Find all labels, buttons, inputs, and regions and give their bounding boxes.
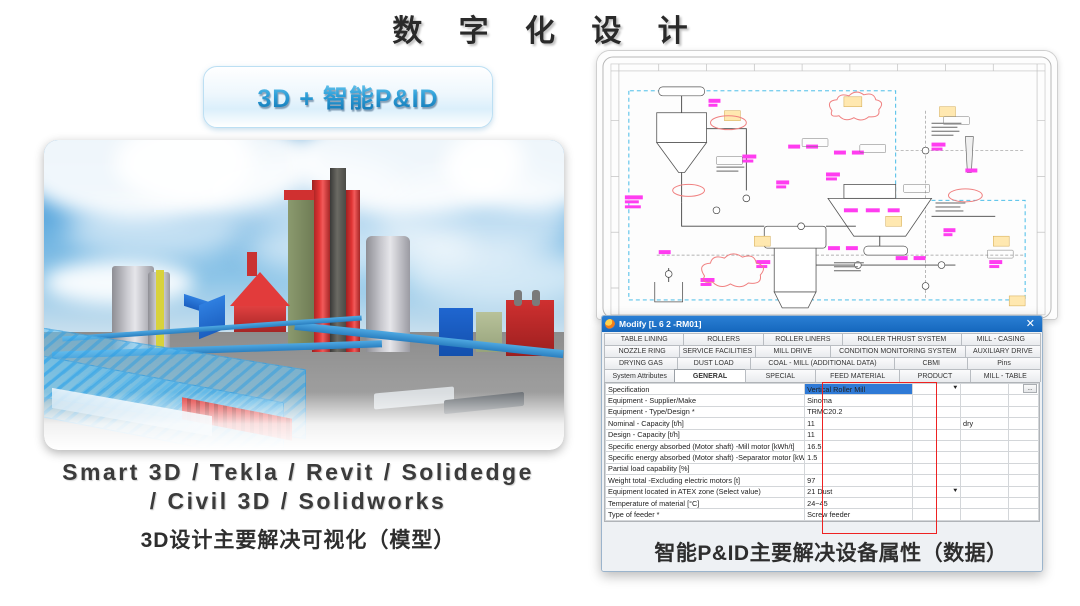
page-title: 数 字 化 设 计	[0, 6, 1080, 50]
left-panel: 3D + 智能P&ID	[18, 58, 578, 588]
property-col-a[interactable]	[913, 463, 961, 474]
tab-product[interactable]: PRODUCT	[899, 369, 970, 382]
property-value[interactable]: 97	[805, 475, 913, 486]
tab-system-attributes[interactable]: System Attributes	[604, 369, 675, 382]
software-brands: Smart 3D / Tekla / Revit / Solidedge / C…	[18, 458, 578, 516]
badge-label: 3D + 智能P&ID	[257, 79, 438, 115]
table-row[interactable]: Equipment - Supplier/MakeSinoma	[606, 395, 1039, 406]
blue-building	[439, 308, 473, 356]
property-col-a[interactable]	[913, 440, 961, 451]
property-label: Specific energy absorbed (Motor shaft) -…	[606, 452, 805, 463]
property-unit[interactable]	[961, 429, 1009, 440]
property-label: Design - Capacity [t/h]	[606, 429, 805, 440]
property-col-a[interactable]	[913, 475, 961, 486]
property-value[interactable]	[805, 463, 913, 474]
property-col-a[interactable]	[913, 395, 961, 406]
property-label: Type of feeder *	[606, 509, 805, 520]
reflection-fade	[44, 392, 564, 450]
property-unit[interactable]	[961, 452, 1009, 463]
chevron-down-icon[interactable]: ⯆	[952, 488, 958, 496]
table-row[interactable]: Weight total -Excluding electric motors …	[606, 475, 1039, 486]
pipe-yellow	[156, 270, 164, 352]
plant-3d-render	[44, 140, 564, 450]
property-value[interactable]: TRMC20.2	[805, 406, 913, 417]
property-value[interactable]: 1.5	[805, 452, 913, 463]
right-panel: Modify [L 6 2 -RM01] ✕ TABLE LINING ROLL…	[596, 50, 1066, 590]
tab-nozzle-ring[interactable]: NOZZLE RING	[604, 345, 680, 357]
tab-dust-load[interactable]: DUST LOAD	[677, 357, 751, 369]
property-col-a[interactable]	[913, 452, 961, 463]
slide-root: 数 字 化 设 计 3D + 智能P&ID	[0, 0, 1080, 606]
tab-row-4: System Attributes GENERAL SPECIAL FEED M…	[604, 369, 1040, 382]
table-row[interactable]: Equipment located in ATEX zone (Select v…	[606, 486, 1039, 497]
tab-auxiliary-drive[interactable]: AUXILIARY DRIVE	[965, 345, 1041, 357]
property-col-a[interactable]	[913, 429, 961, 440]
property-col-c[interactable]	[1008, 429, 1038, 440]
property-label: Equipment - Supplier/Make	[606, 395, 805, 406]
table-row[interactable]: Specific energy absorbed (Motor shaft) -…	[606, 440, 1039, 451]
property-unit[interactable]	[961, 395, 1009, 406]
property-label: Partial load capability [%]	[606, 463, 805, 474]
properties-table-wrap: SpecificationVertical Roller Mill⯆Equipm…	[604, 382, 1040, 522]
property-label: Temperature of material [°C]	[606, 497, 805, 508]
property-label: Nominal - Capacity [t/h]	[606, 418, 805, 429]
tab-coal-mill-additional-data[interactable]: COAL - MILL (ADDITIONAL DATA)	[750, 357, 896, 369]
table-row[interactable]: Partial load capability [%]	[606, 463, 1039, 474]
table-row[interactable]: Temperature of material [°C]24~45	[606, 497, 1039, 508]
tab-general[interactable]: GENERAL	[674, 369, 745, 382]
table-row[interactable]: Equipment - Type/Design *TRMC20.2	[606, 406, 1039, 417]
property-col-c[interactable]	[1008, 440, 1038, 451]
table-row[interactable]: Specific energy absorbed (Motor shaft) -…	[606, 452, 1039, 463]
browse-button[interactable]: ...	[1023, 384, 1037, 393]
table-row[interactable]: Design - Capacity [t/h]11	[606, 429, 1039, 440]
tab-condition-monitoring-system[interactable]: CONDITION MONITORING SYSTEM	[830, 345, 966, 357]
tab-rollers[interactable]: ROLLERS	[683, 333, 763, 345]
property-value[interactable]: 24~45	[805, 497, 913, 508]
chevron-down-icon[interactable]: ⯆	[952, 385, 958, 393]
tab-special[interactable]: SPECIAL	[745, 369, 816, 382]
table-row[interactable]: Nominal - Capacity [t/h]11dry	[606, 418, 1039, 429]
property-unit[interactable]	[961, 509, 1009, 520]
left-caption: 3D设计主要解决可视化（模型）	[18, 524, 578, 554]
dialog-title: Modify [L 6 2 -RM01]	[619, 319, 1022, 329]
tab-mill-casing[interactable]: MILL - CASING	[961, 333, 1041, 345]
property-value[interactable]: 11	[805, 429, 913, 440]
software-brands-line-1: Smart 3D / Tekla / Revit / Solidedge	[18, 458, 578, 487]
tab-cbmi[interactable]: CBMI	[894, 357, 968, 369]
tab-mill-drive[interactable]: MILL DRIVE	[755, 345, 831, 357]
property-col-c[interactable]	[1008, 497, 1038, 508]
modify-dialog[interactable]: Modify [L 6 2 -RM01] ✕ TABLE LINING ROLL…	[601, 315, 1043, 572]
property-col-c[interactable]	[1008, 395, 1038, 406]
tab-feed-material[interactable]: FEED MATERIAL	[815, 369, 900, 382]
modify-app-icon	[605, 319, 615, 329]
property-col-c[interactable]	[1008, 475, 1038, 486]
property-unit[interactable]	[961, 440, 1009, 451]
property-value[interactable]: Sinoma	[805, 395, 913, 406]
tab-pins[interactable]: Pins	[967, 357, 1041, 369]
badge-3d-pid: 3D + 智能P&ID	[203, 66, 493, 128]
properties-table: SpecificationVertical Roller Mill⯆Equipm…	[605, 383, 1039, 521]
pid-drawing	[596, 50, 1058, 320]
property-unit[interactable]	[961, 406, 1009, 417]
property-col-a[interactable]: ⯆	[913, 486, 961, 497]
cyclone-stack	[247, 252, 257, 276]
property-unit[interactable]	[961, 486, 1009, 497]
property-unit[interactable]	[961, 497, 1009, 508]
tab-roller-liners[interactable]: ROLLER LINERS	[763, 333, 843, 345]
table-row[interactable]: Type of feeder *Screw feeder	[606, 509, 1039, 520]
property-unit[interactable]: dry	[961, 418, 1009, 429]
property-col-c[interactable]	[1008, 418, 1038, 429]
property-value[interactable]: Screw feeder	[805, 509, 913, 520]
tab-table-lining[interactable]: TABLE LINING	[604, 333, 684, 345]
property-col-c[interactable]	[1008, 486, 1038, 497]
property-label: Weight total -Excluding electric motors …	[606, 475, 805, 486]
software-brands-line-2: / Civil 3D / Solidworks	[18, 487, 578, 516]
property-col-a[interactable]	[913, 406, 961, 417]
property-col-c[interactable]	[1008, 509, 1038, 520]
tab-service-facilities[interactable]: SERVICE FACILITIES	[679, 345, 755, 357]
tab-drying-gas[interactable]: DRYING GAS	[604, 357, 678, 369]
property-label: Equipment - Type/Design *	[606, 406, 805, 417]
cyclone-roof	[230, 272, 290, 306]
tab-row-1: TABLE LINING ROLLERS ROLLER LINERS ROLLE…	[604, 333, 1040, 345]
property-col-a[interactable]	[913, 509, 961, 520]
property-col-a[interactable]	[913, 497, 961, 508]
tab-mill-table[interactable]: MILL - TABLE	[970, 369, 1041, 382]
dialog-tabs: TABLE LINING ROLLERS ROLLER LINERS ROLLE…	[602, 332, 1042, 382]
dialog-title-bar: Modify [L 6 2 -RM01] ✕	[602, 316, 1042, 332]
property-col-c[interactable]	[1008, 463, 1038, 474]
property-label: Specification	[606, 384, 805, 395]
property-label: Equipment located in ATEX zone (Select v…	[606, 486, 805, 497]
property-value[interactable]: 11	[805, 418, 913, 429]
property-unit[interactable]	[961, 384, 1009, 395]
tab-roller-thrust-system[interactable]: ROLLER THRUST SYSTEM	[842, 333, 962, 345]
table-row[interactable]: SpecificationVertical Roller Mill⯆	[606, 384, 1039, 395]
tab-row-2: NOZZLE RING SERVICE FACILITIES MILL DRIV…	[604, 345, 1040, 357]
stack-a	[514, 290, 522, 306]
property-value[interactable]: 16.5	[805, 440, 913, 451]
tab-row-3: DRYING GAS DUST LOAD COAL - MILL (ADDITI…	[604, 357, 1040, 369]
property-col-c[interactable]	[1008, 406, 1038, 417]
right-caption: 智能P&ID主要解决设备属性（数据）	[592, 537, 1070, 567]
property-col-a[interactable]: ⯆	[913, 384, 961, 395]
tower-cap	[284, 190, 314, 200]
property-unit[interactable]	[961, 463, 1009, 474]
property-value[interactable]: 21 Dust	[805, 486, 913, 497]
stack-b	[532, 290, 540, 306]
pid-svg	[597, 51, 1057, 320]
property-label: Specific energy absorbed (Motor shaft) -…	[606, 440, 805, 451]
property-col-a[interactable]	[913, 418, 961, 429]
property-value[interactable]: Vertical Roller Mill	[805, 384, 913, 395]
property-unit[interactable]	[961, 475, 1009, 486]
property-col-c[interactable]	[1008, 452, 1038, 463]
close-icon[interactable]: ✕	[1022, 319, 1039, 330]
preheater-tower-dark	[330, 168, 346, 352]
